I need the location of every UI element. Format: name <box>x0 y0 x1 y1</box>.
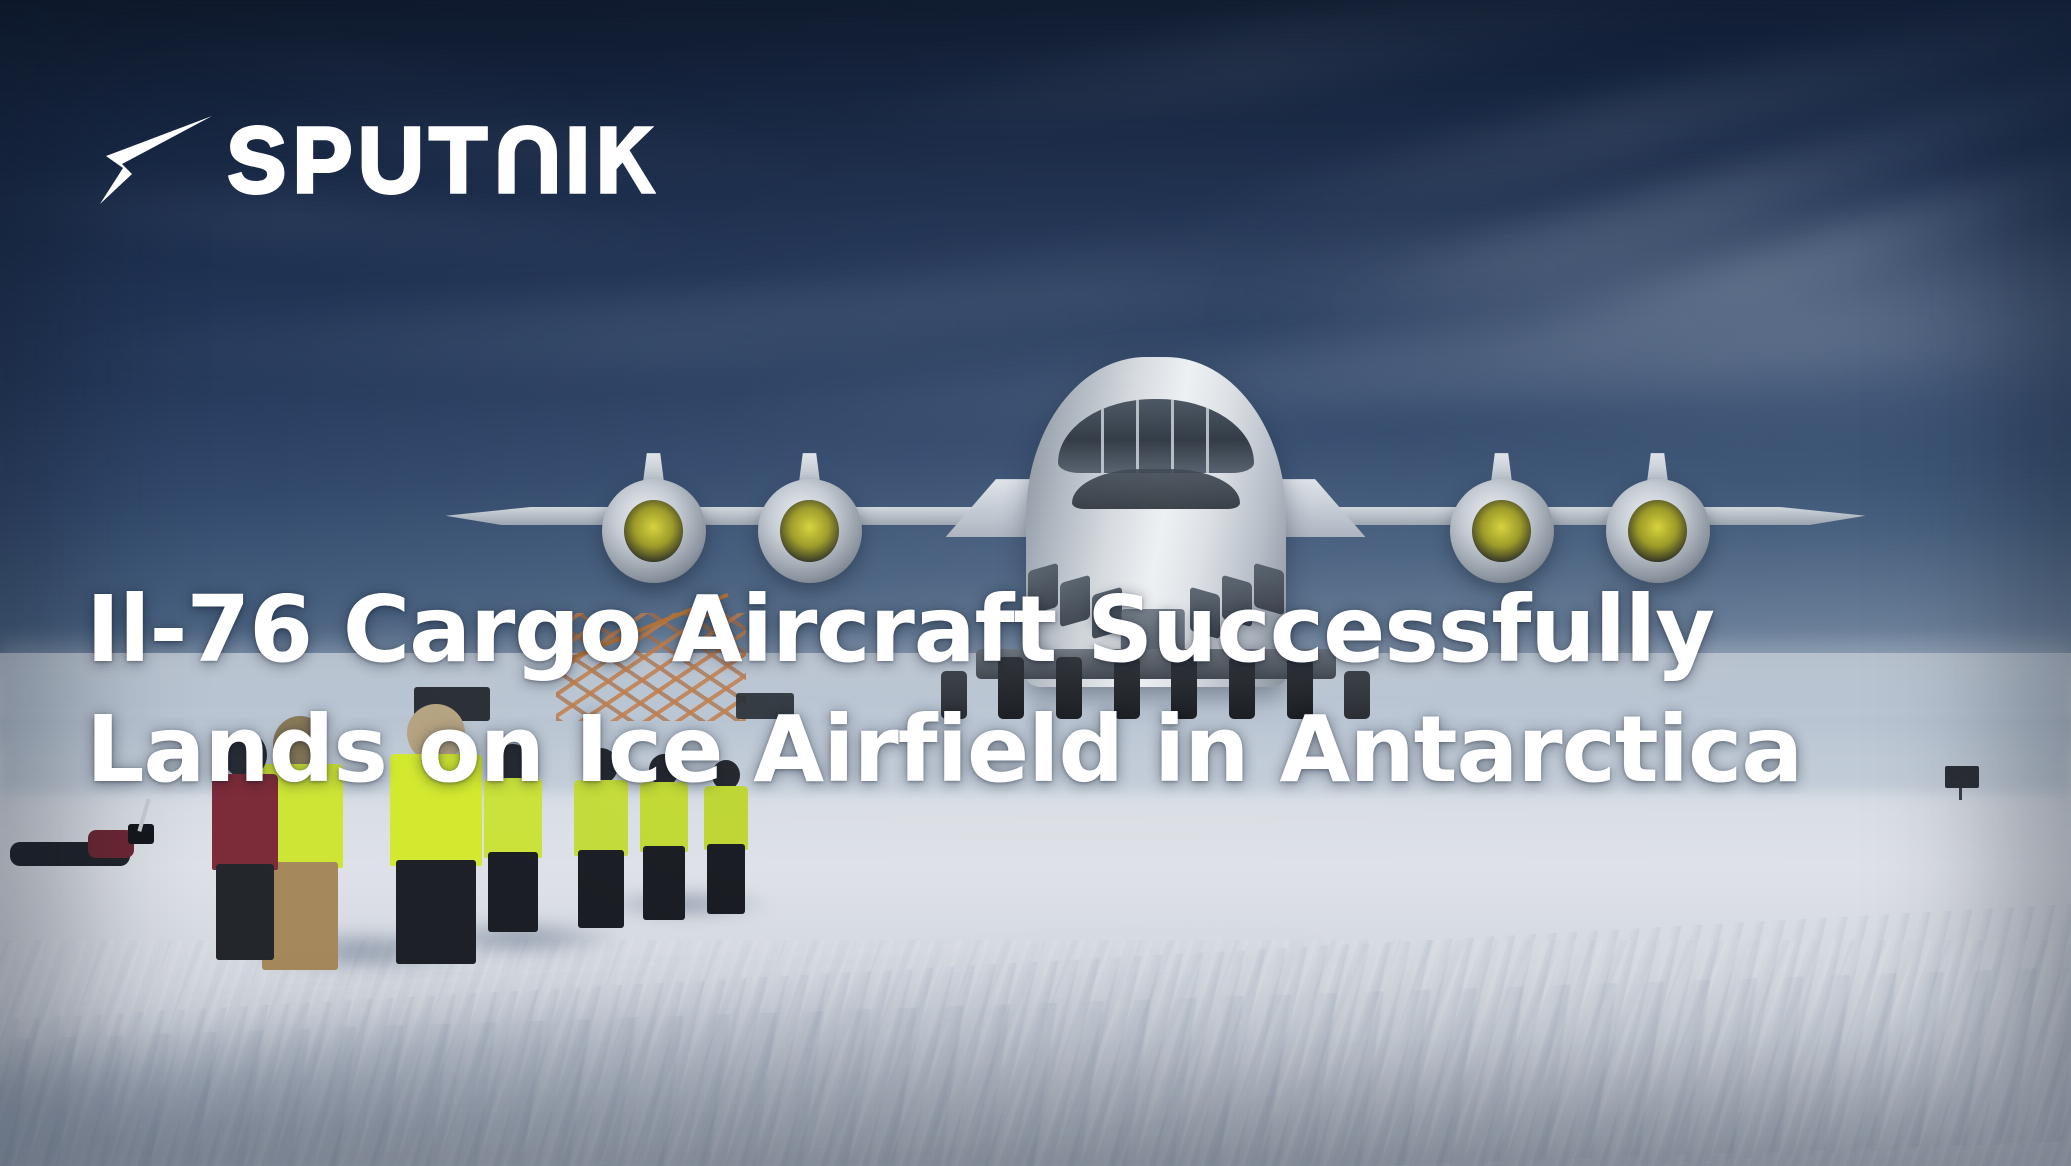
cockpit-windows <box>1072 469 1240 509</box>
photographer-lying-in-snow <box>10 822 160 866</box>
sputnik-arrow-icon <box>96 112 214 208</box>
sputnik-logo[interactable] <box>96 112 656 208</box>
headline-line-2: Lands on Ice Airfield in Antarctica <box>86 690 1986 810</box>
news-card: Il-76 Cargo Aircraft Successfully Lands … <box>0 0 2071 1166</box>
article-headline: Il-76 Cargo Aircraft Successfully Lands … <box>86 570 1986 809</box>
sputnik-wordmark <box>228 125 656 195</box>
engine-nacelle <box>1606 479 1710 583</box>
engine-nacelle <box>758 479 862 583</box>
navigator-glazing <box>1058 399 1254 473</box>
engine-nacelle <box>602 479 706 583</box>
engine-nacelle <box>1450 479 1554 583</box>
headline-line-1: Il-76 Cargo Aircraft Successfully <box>86 570 1986 690</box>
